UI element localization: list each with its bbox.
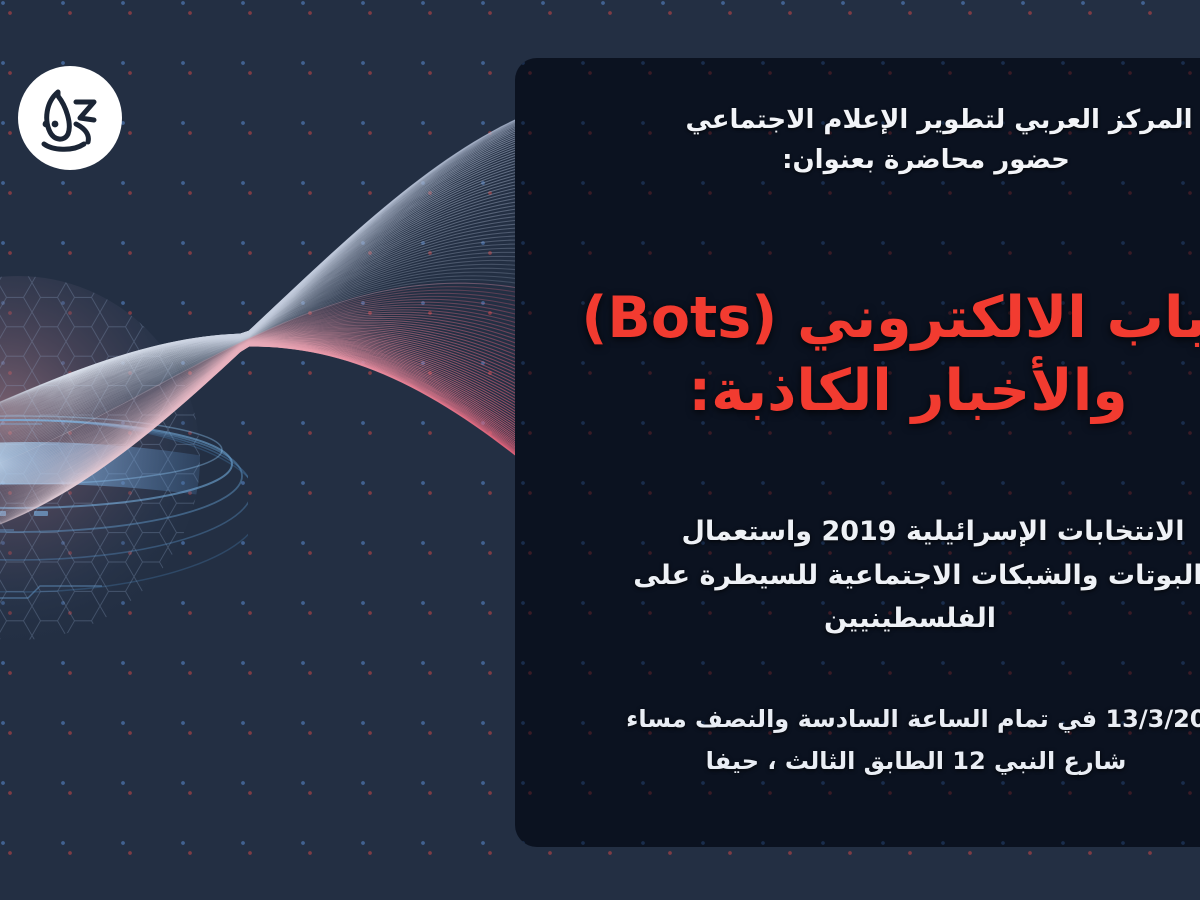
lecture-subtitle: الانتخابات الإسرائيلية 2019 واستعمال الب… [553, 510, 1200, 641]
lecture-title: الذباب الالكتروني (Bots) والأخبار الكاذب… [551, 282, 1200, 428]
lecture-subtitle-line-1: الانتخابات الإسرائيلية 2019 واستعمال [553, 510, 1200, 554]
event-location: شارع النبي 12 الطابق الثالث ، حيفا [553, 740, 1200, 782]
event-details: 13/3/2019 في تمام الساعة السادسة والنصف … [553, 698, 1200, 782]
poster-canvas: المركز العربي لتطوير الإعلام الاجتماعي ح… [0, 0, 1200, 900]
event-datetime: 13/3/2019 في تمام الساعة السادسة والنصف … [553, 698, 1200, 740]
organization-name: المركز العربي لتطوير الإعلام الاجتماعي [559, 100, 1200, 140]
lecture-title-line-2: والأخبار الكاذبة: [551, 355, 1200, 428]
poster-text-content: المركز العربي لتطوير الإعلام الاجتماعي ح… [515, 58, 1200, 847]
lecture-subtitle-line-2: البوتات والشبكات الاجتماعية للسيطرة على [553, 554, 1200, 598]
arabic-calligraphy-circle-logo [14, 62, 126, 174]
organization-header: المركز العربي لتطوير الإعلام الاجتماعي ح… [559, 100, 1200, 181]
lecture-title-line-1: الذباب الالكتروني (Bots) [551, 282, 1200, 355]
lecture-subtitle-line-3: الفلسطينيين [553, 597, 1200, 641]
lecture-invitation-line: حضور محاضرة بعنوان: [559, 140, 1200, 180]
